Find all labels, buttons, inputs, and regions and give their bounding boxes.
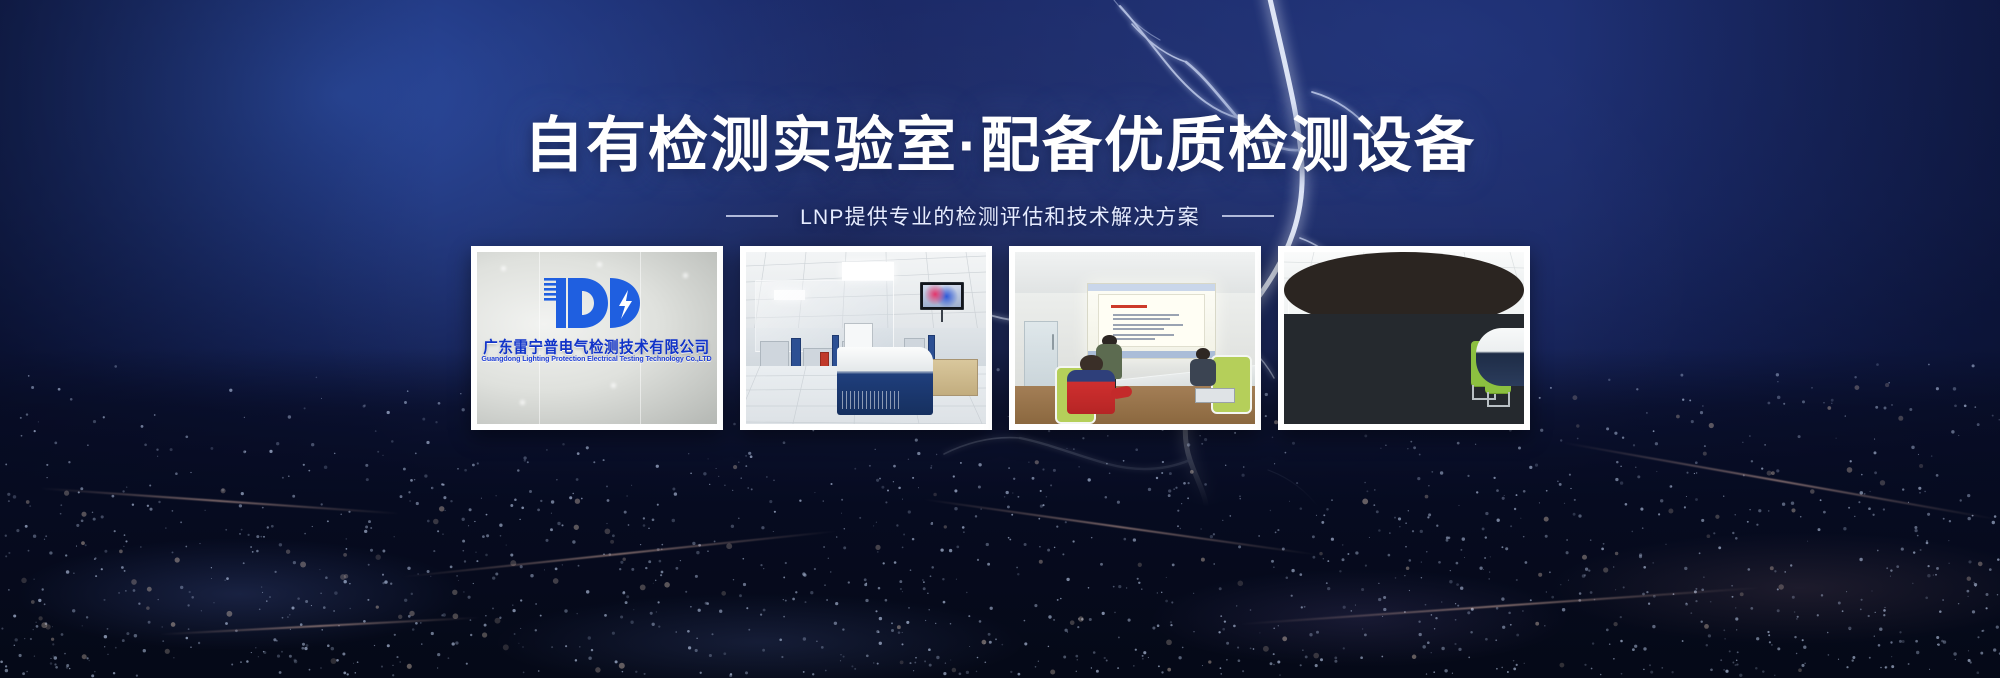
company-sign-photo: 广东雷宁普电气检测技术有限公司 Guangdong Lighting Prote… bbox=[477, 252, 717, 424]
laptop bbox=[1195, 388, 1236, 403]
gallery-card-hv-laboratory[interactable] bbox=[740, 246, 992, 430]
company-name-en: Guangdong Lighting Protection Electrical… bbox=[477, 355, 717, 363]
seated-attendee-front bbox=[1067, 355, 1115, 424]
gallery-card-training-room[interactable] bbox=[1009, 246, 1261, 430]
photo-gallery: 广东雷宁普电气检测技术有限公司 Guangdong Lighting Prote… bbox=[0, 246, 2000, 430]
wall-monitor bbox=[920, 282, 964, 310]
control-console bbox=[837, 347, 933, 416]
gallery-card-office-area[interactable] bbox=[1278, 246, 1530, 430]
gallery-card-company-sign[interactable]: 广东雷宁普电气检测技术有限公司 Guangdong Lighting Prote… bbox=[471, 246, 723, 430]
left-rule-divider bbox=[726, 215, 778, 217]
page-title: 自有检测实验室·配备优质检测设备 bbox=[0, 112, 2000, 179]
hero-subtitle: LNP提供专业的检测评估和技术解决方案 bbox=[800, 201, 1200, 231]
hero-subtitle-row: LNP提供专业的检测评估和技术解决方案 bbox=[0, 201, 2000, 231]
lnp-logo-icon bbox=[538, 272, 656, 334]
office-area-photo bbox=[1284, 252, 1524, 424]
reception-counter bbox=[1476, 328, 1524, 386]
hv-laboratory-photo bbox=[746, 252, 986, 424]
seated-attendee bbox=[1190, 348, 1216, 393]
right-rule-divider bbox=[1222, 215, 1274, 217]
hero-copy: 自有检测实验室·配备优质检测设备 LNP提供专业的检测评估和技术解决方案 bbox=[0, 112, 2000, 231]
hero-banner: 自有检测实验室·配备优质检测设备 LNP提供专业的检测评估和技术解决方案 bbox=[0, 0, 2000, 678]
training-room-photo bbox=[1015, 252, 1255, 424]
